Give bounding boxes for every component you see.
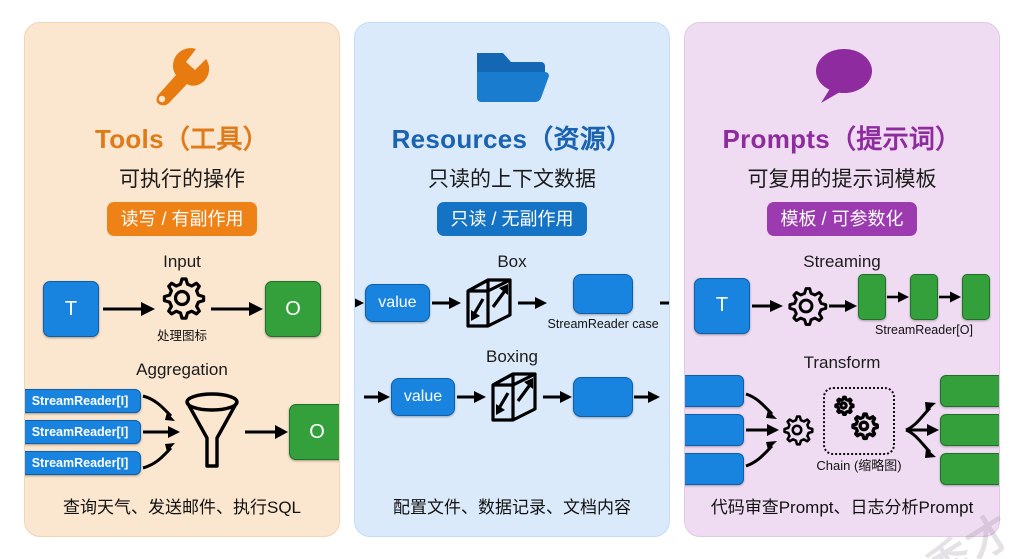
transform-inputs xyxy=(684,375,744,485)
arrow-right-icon xyxy=(99,298,157,320)
node-output-strip xyxy=(940,453,1000,485)
funnel-icon xyxy=(181,390,243,474)
arrow-right-icon xyxy=(455,387,487,407)
card-badge: 读写 / 有副作用 xyxy=(107,202,256,236)
node-input-strip xyxy=(684,453,744,485)
card-prompts: Prompts（提示词） 可复用的提示词模板 模板 / 可参数化 Streami… xyxy=(684,22,1000,537)
card-tools: Tools（工具） 可执行的操作 读写 / 有副作用 Input T xyxy=(24,22,340,537)
node-stream-chunk xyxy=(858,274,886,320)
node-output-o: O xyxy=(289,404,340,460)
node-output-strip xyxy=(940,375,1000,407)
box-flow-row: value xyxy=(354,274,670,331)
node-input-t: T xyxy=(694,278,750,334)
card-subtitle: 可复用的提示词模板 xyxy=(748,163,937,193)
section-label: Aggregation xyxy=(136,360,228,380)
cube-arrows-icon xyxy=(487,369,541,425)
list-item: StreamReader[I] xyxy=(24,451,141,475)
section-label: Streaming xyxy=(803,252,880,272)
card-title: Resources（资源） xyxy=(392,119,633,156)
arrow-right-icon xyxy=(886,288,910,306)
arrow-right-icon xyxy=(633,387,661,407)
arrow-right-icon xyxy=(207,298,265,320)
converging-arrows-icon xyxy=(744,382,780,478)
card-title: Tools（工具） xyxy=(95,119,269,156)
node-stream-chunk xyxy=(910,274,938,320)
output-caption: StreamReader[O] xyxy=(875,323,973,337)
node-input-t: T xyxy=(43,281,99,337)
chain-group xyxy=(823,387,895,455)
double-gear-icon xyxy=(829,393,889,449)
arrow-right-icon xyxy=(243,421,289,443)
card-footer: 配置文件、数据记录、文档内容 xyxy=(393,493,631,526)
output-caption: StreamReader case xyxy=(548,317,659,331)
node-value: value xyxy=(391,378,455,416)
node-stream-chunk xyxy=(962,274,990,320)
transform-outputs xyxy=(940,375,1000,485)
card-subtitle: 可执行的操作 xyxy=(119,163,245,193)
card-row: Tools（工具） 可执行的操作 读写 / 有副作用 Input T xyxy=(0,0,1024,559)
node-output-blank xyxy=(573,274,633,314)
process-caption: 处理图标 xyxy=(157,325,207,344)
arrow-right-icon xyxy=(541,387,573,407)
node-output-o: O xyxy=(265,281,321,337)
cube-arrows-icon xyxy=(462,275,516,331)
boxing-flow-row: value xyxy=(363,369,661,425)
gear-icon xyxy=(784,284,828,328)
card-footer: 查询天气、发送邮件、执行SQL xyxy=(63,493,301,526)
section-box: Box value xyxy=(365,252,659,331)
card-badge: 模板 / 可参数化 xyxy=(767,202,916,236)
section-input: Input T 处理图标 xyxy=(35,252,329,344)
streaming-output-chain xyxy=(858,274,990,320)
arrow-right-icon xyxy=(363,387,391,407)
arrow-right-icon xyxy=(750,296,784,316)
card-title: Prompts（提示词） xyxy=(722,119,961,156)
node-output-strip xyxy=(940,414,1000,446)
section-streaming: Streaming T xyxy=(695,252,989,337)
infographic-stage: Tools（工具） 可执行的操作 读写 / 有副作用 Input T xyxy=(0,0,1024,559)
section-label: Transform xyxy=(804,353,881,373)
section-aggregation: Aggregation StreamReader[I] StreamReader… xyxy=(35,360,329,482)
folder-icon xyxy=(473,41,551,111)
arrow-right-icon xyxy=(938,288,962,306)
chain-caption: Chain (缩略图) xyxy=(816,455,901,474)
transform-flow-row: Chain (缩略图) xyxy=(684,375,1000,485)
section-transform: Transform xyxy=(695,353,989,485)
section-label: Input xyxy=(163,252,201,272)
card-resources: Resources（资源） 只读的上下文数据 只读 / 无副作用 Box val… xyxy=(354,22,670,537)
section-boxing: Boxing value xyxy=(365,347,659,425)
aggregation-inputs: StreamReader[I] StreamReader[I] StreamRe… xyxy=(24,389,141,475)
section-label: Boxing xyxy=(486,347,538,367)
diverging-arrows-icon xyxy=(904,382,940,478)
section-label: Box xyxy=(497,252,526,272)
arrow-right-icon xyxy=(659,293,670,313)
input-flow-row: T 处理图标 xyxy=(43,274,321,344)
speech-bubble-icon xyxy=(807,41,877,111)
arrow-right-icon xyxy=(516,293,548,313)
arrow-right-icon xyxy=(354,293,365,313)
node-value: value xyxy=(365,284,429,322)
card-badge: 只读 / 无副作用 xyxy=(437,202,586,236)
gear-icon xyxy=(780,413,814,447)
arrow-right-icon xyxy=(430,293,462,313)
card-subtitle: 只读的上下文数据 xyxy=(428,163,596,193)
node-output-blank xyxy=(573,377,633,417)
list-item: StreamReader[I] xyxy=(24,420,141,444)
arrow-right-icon xyxy=(828,296,858,316)
gear-icon xyxy=(158,274,206,322)
wrench-icon xyxy=(149,41,215,111)
node-input-strip xyxy=(684,414,744,446)
converging-arrows-icon xyxy=(141,382,181,482)
aggregation-flow-row: StreamReader[I] StreamReader[I] StreamRe… xyxy=(24,382,340,482)
list-item: StreamReader[I] xyxy=(24,389,141,413)
node-input-strip xyxy=(684,375,744,407)
streaming-flow-row: T xyxy=(694,274,990,337)
card-footer: 代码审查Prompt、日志分析Prompt xyxy=(711,493,974,526)
